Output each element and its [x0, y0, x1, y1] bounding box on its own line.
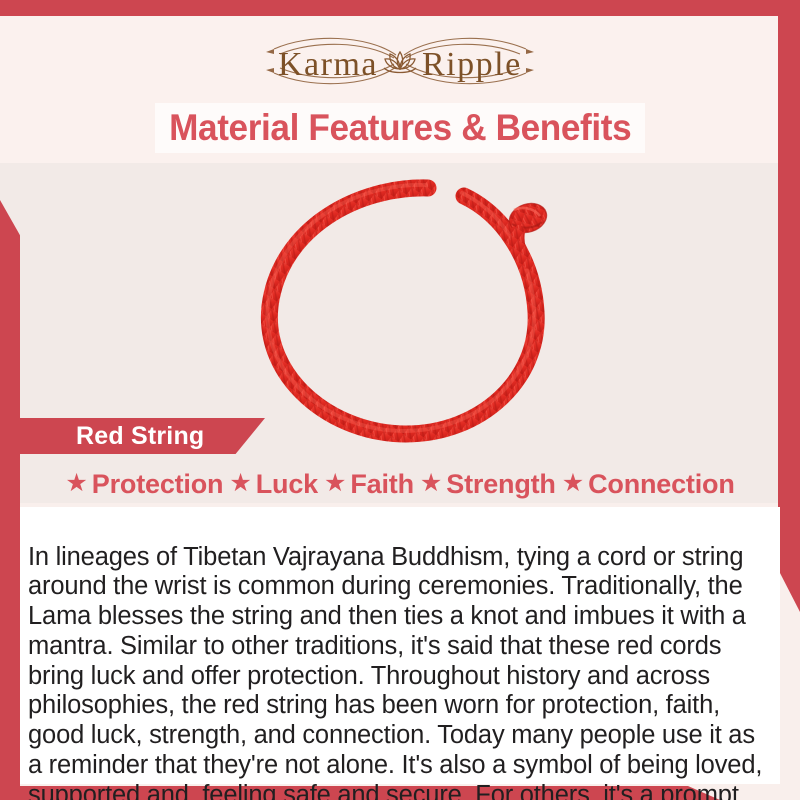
material-name: Red String [20, 422, 204, 451]
benefit-label: Luck [256, 469, 318, 500]
benefit-luck: ★ Luck [229, 469, 318, 500]
brand-logo: Karma Ripple [0, 26, 800, 96]
star-icon: ★ [324, 471, 346, 496]
page-title-box: Material Features & Benefits [155, 103, 645, 153]
benefits-row: ★ Protection ★ Luck ★ Faith ★ Strength ★… [20, 463, 780, 505]
benefit-label: Connection [588, 469, 735, 500]
decorative-left-bar [0, 200, 20, 788]
brand-logo-svg: Karma Ripple [240, 29, 560, 93]
benefit-strength: ★ Strength [420, 469, 556, 500]
product-image [240, 166, 600, 456]
benefit-label: Protection [92, 469, 224, 500]
material-banner: Red String [20, 418, 265, 454]
description-panel: In lineages of Tibetan Vajrayana Buddhis… [20, 507, 780, 784]
benefit-connection: ★ Connection [562, 469, 735, 500]
decorative-top-bar [0, 0, 800, 16]
star-icon: ★ [65, 471, 87, 496]
benefit-label: Strength [446, 469, 555, 500]
star-icon: ★ [562, 471, 584, 496]
infographic-page: Karma Ripple Material Features & Benefit… [0, 0, 800, 800]
benefit-label: Faith [350, 469, 414, 500]
benefit-protection: ★ Protection [65, 469, 223, 500]
benefit-faith: ★ Faith [324, 469, 414, 500]
description-text: In lineages of Tibetan Vajrayana Buddhis… [20, 537, 780, 800]
brand-name-right: Ripple [422, 46, 522, 83]
red-string-bracelet-illustration [240, 166, 600, 456]
star-icon: ★ [229, 471, 251, 496]
page-title: Material Features & Benefits [169, 107, 631, 149]
star-icon: ★ [420, 471, 442, 496]
brand-name-left: Karma [278, 46, 378, 83]
